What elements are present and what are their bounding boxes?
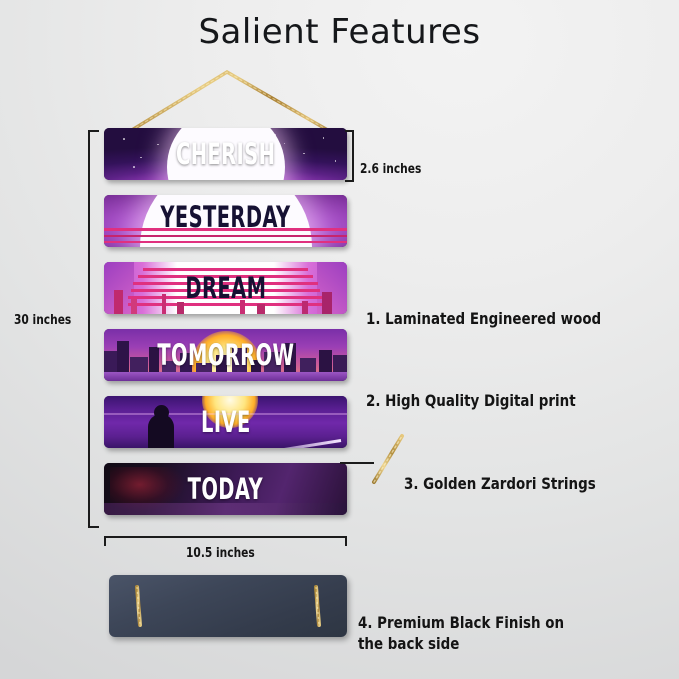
panel-live[interactable]: LIVE <box>104 396 347 448</box>
bracket-total-height <box>88 130 90 528</box>
bracket-width-tick-right <box>345 536 347 546</box>
panel-word: DREAM <box>104 276 347 301</box>
bracket-panel-height <box>352 130 354 182</box>
back-panel-strings <box>109 575 347 637</box>
leader-line-strings <box>340 462 374 464</box>
panel-today[interactable]: TODAY <box>104 463 347 515</box>
panel-cherish[interactable]: CHERISH <box>104 128 347 180</box>
zardori-string-sample <box>370 432 410 488</box>
panel-tomorrow[interactable]: TOMORROW <box>104 329 347 381</box>
bracket-width-tick-left <box>104 536 106 546</box>
page-title: Salient Features <box>0 12 679 52</box>
feature-item-1: 1. Laminated Engineered wood <box>366 288 646 330</box>
product-feature-image: Salient Features <box>0 0 679 679</box>
bracket-panel-height-tick-top <box>345 130 354 132</box>
bracket-total-height-tick-top <box>88 130 99 132</box>
panel-dream[interactable]: DREAM <box>104 262 347 314</box>
panel-word: LIVE <box>104 410 347 435</box>
panel-word: YESTERDAY <box>104 204 347 229</box>
dimension-width: 10.5 inches <box>186 546 270 561</box>
bracket-panel-height-tick-bottom <box>345 180 354 182</box>
panel-word: TODAY <box>104 477 347 502</box>
bracket-total-height-tick-bottom <box>88 526 99 528</box>
feature-item-4: 4. Premium Black Finish on the back side <box>358 592 603 654</box>
panel-word: CHERISH <box>104 142 347 167</box>
feature-item-3: 3. Golden Zardori Strings <box>404 453 632 495</box>
feature-item-2: 2. High Quality Digital print <box>366 370 616 412</box>
bracket-width <box>104 536 347 538</box>
wall-hanging-panels: CHERISH YESTERDAY <box>104 128 347 528</box>
dimension-total-height: 30 inches <box>14 313 84 328</box>
panel-word: TOMORROW <box>104 343 347 368</box>
dimension-panel-height: 2.6 inches <box>360 162 435 177</box>
back-panel-plaque[interactable] <box>109 575 347 637</box>
panel-yesterday[interactable]: YESTERDAY <box>104 195 347 247</box>
